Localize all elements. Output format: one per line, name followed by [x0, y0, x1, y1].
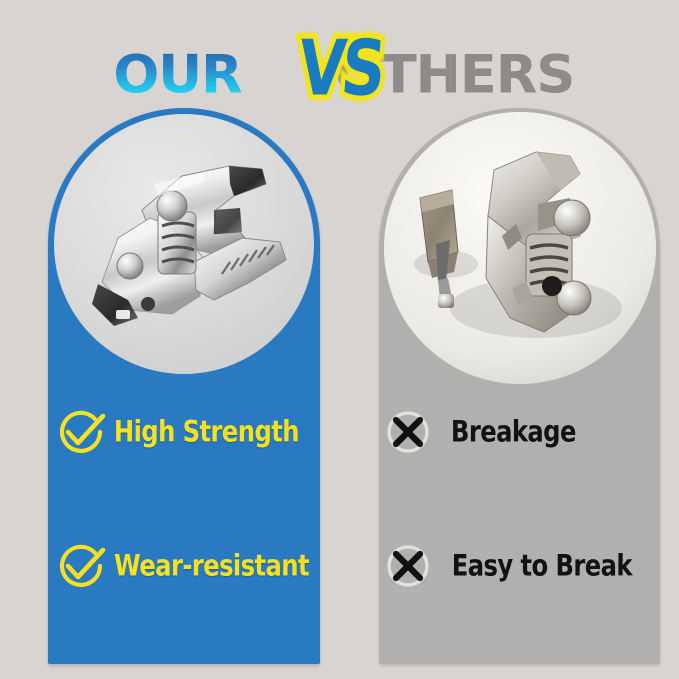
feature-row-wear-resistant: Wear-resistant — [55, 538, 312, 594]
vs-label: VS — [294, 23, 384, 113]
feature-underline — [417, 586, 621, 589]
feature-row-high-strength: High Strength — [55, 404, 302, 460]
feature-underline — [97, 455, 295, 458]
our-product-photo — [54, 114, 314, 374]
check-circle-icon — [55, 539, 109, 593]
intact-wrench-illustration — [54, 114, 314, 374]
vs-badge: VS VS — [260, 18, 420, 118]
x-circle-icon — [381, 405, 435, 459]
our-title: OUR — [113, 43, 241, 105]
feature-label: High Strength — [114, 414, 299, 448]
feature-underline — [417, 452, 621, 455]
x-circle-icon — [381, 539, 435, 593]
feature-underline — [97, 589, 295, 592]
broken-wrench-illustration — [384, 112, 656, 384]
check-circle-icon — [55, 405, 109, 459]
feature-label: Wear-resistant — [114, 548, 309, 582]
feature-label: Breakage — [451, 414, 576, 448]
others-product-photo — [384, 112, 656, 384]
feature-label: Easy to Break — [452, 548, 632, 582]
